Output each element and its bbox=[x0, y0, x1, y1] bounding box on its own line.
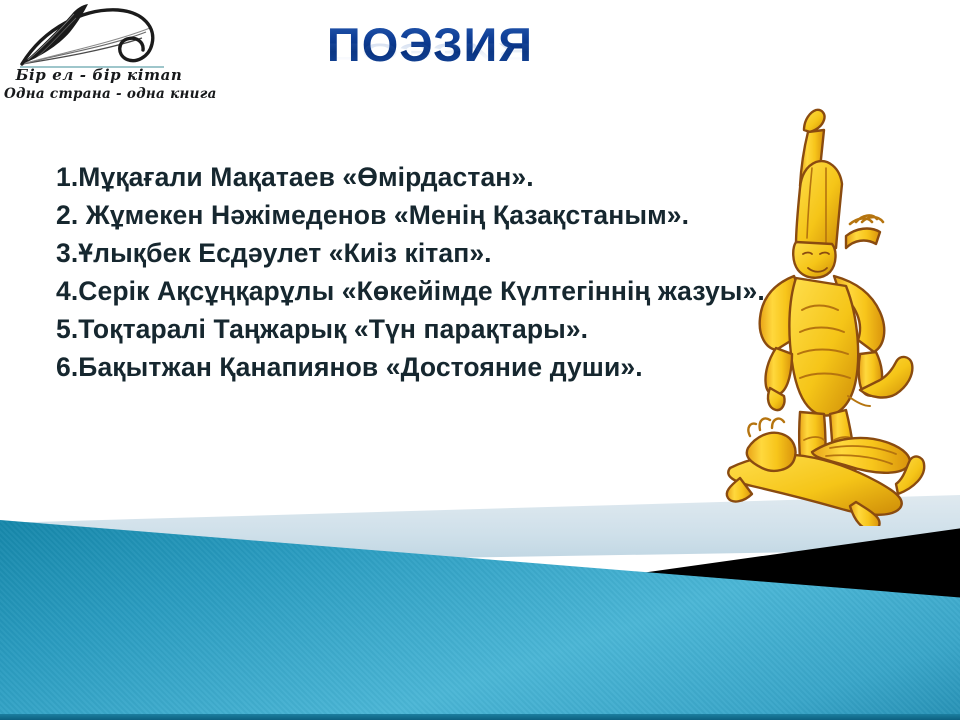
page-title-reflection: ПОЭЗИЯ bbox=[300, 38, 560, 66]
logo-tagline-kazakh: Бір ел - бір кітап bbox=[4, 66, 194, 84]
decor-black-wedge bbox=[0, 520, 960, 625]
decor-teal-triangle bbox=[0, 505, 960, 720]
logo: Бір ел - бір кітап Одна страна - одна кн… bbox=[4, 2, 194, 110]
quill-book-logo-icon bbox=[14, 2, 184, 74]
golden-man-statue-image bbox=[700, 96, 950, 526]
logo-tagline-russian: Одна страна - одна книга bbox=[4, 86, 194, 102]
decor-bottom-edge-line bbox=[0, 714, 960, 720]
slide-canvas: Бір ел - бір кітап Одна страна - одна кн… bbox=[0, 0, 960, 720]
page-title: ПОЭЗИЯ ПОЭЗИЯ bbox=[300, 18, 560, 108]
